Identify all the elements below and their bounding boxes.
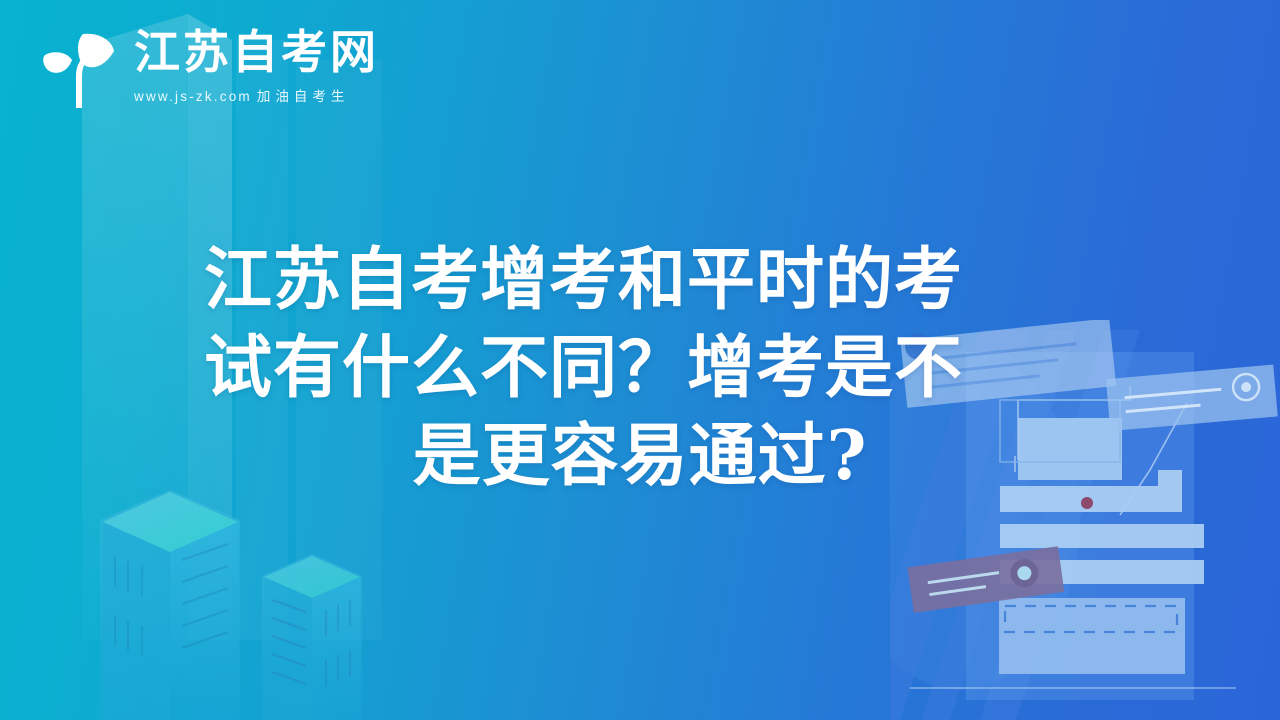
isometric-tower-small <box>262 554 362 720</box>
isometric-tower-large <box>100 490 240 720</box>
banner-canvas: 江苏自考网 www.js-zk.com加油自考生 江苏自考增考和平时的考 试有什… <box>0 0 1280 720</box>
logo-slogan: 加油自考生 <box>257 89 350 104</box>
sprout-leaf-icon <box>36 24 120 110</box>
logo-website: www.js-zk.com <box>134 89 252 104</box>
logo-brand-name: 江苏自考网 <box>134 28 379 76</box>
page-title: 江苏自考增考和平时的考 试有什么不同？增考是不 是更容易通过? <box>190 236 1090 500</box>
logo-subtitle: www.js-zk.com加油自考生 <box>134 85 379 105</box>
page-title-line-1: 江苏自考增考和平时的考 <box>204 236 1090 324</box>
page-title-line-3: 是更容易通过? <box>190 412 1090 500</box>
site-logo[interactable]: 江苏自考网 www.js-zk.com加油自考生 <box>36 22 379 110</box>
page-title-line-2: 试有什么不同？增考是不 <box>204 324 1090 412</box>
